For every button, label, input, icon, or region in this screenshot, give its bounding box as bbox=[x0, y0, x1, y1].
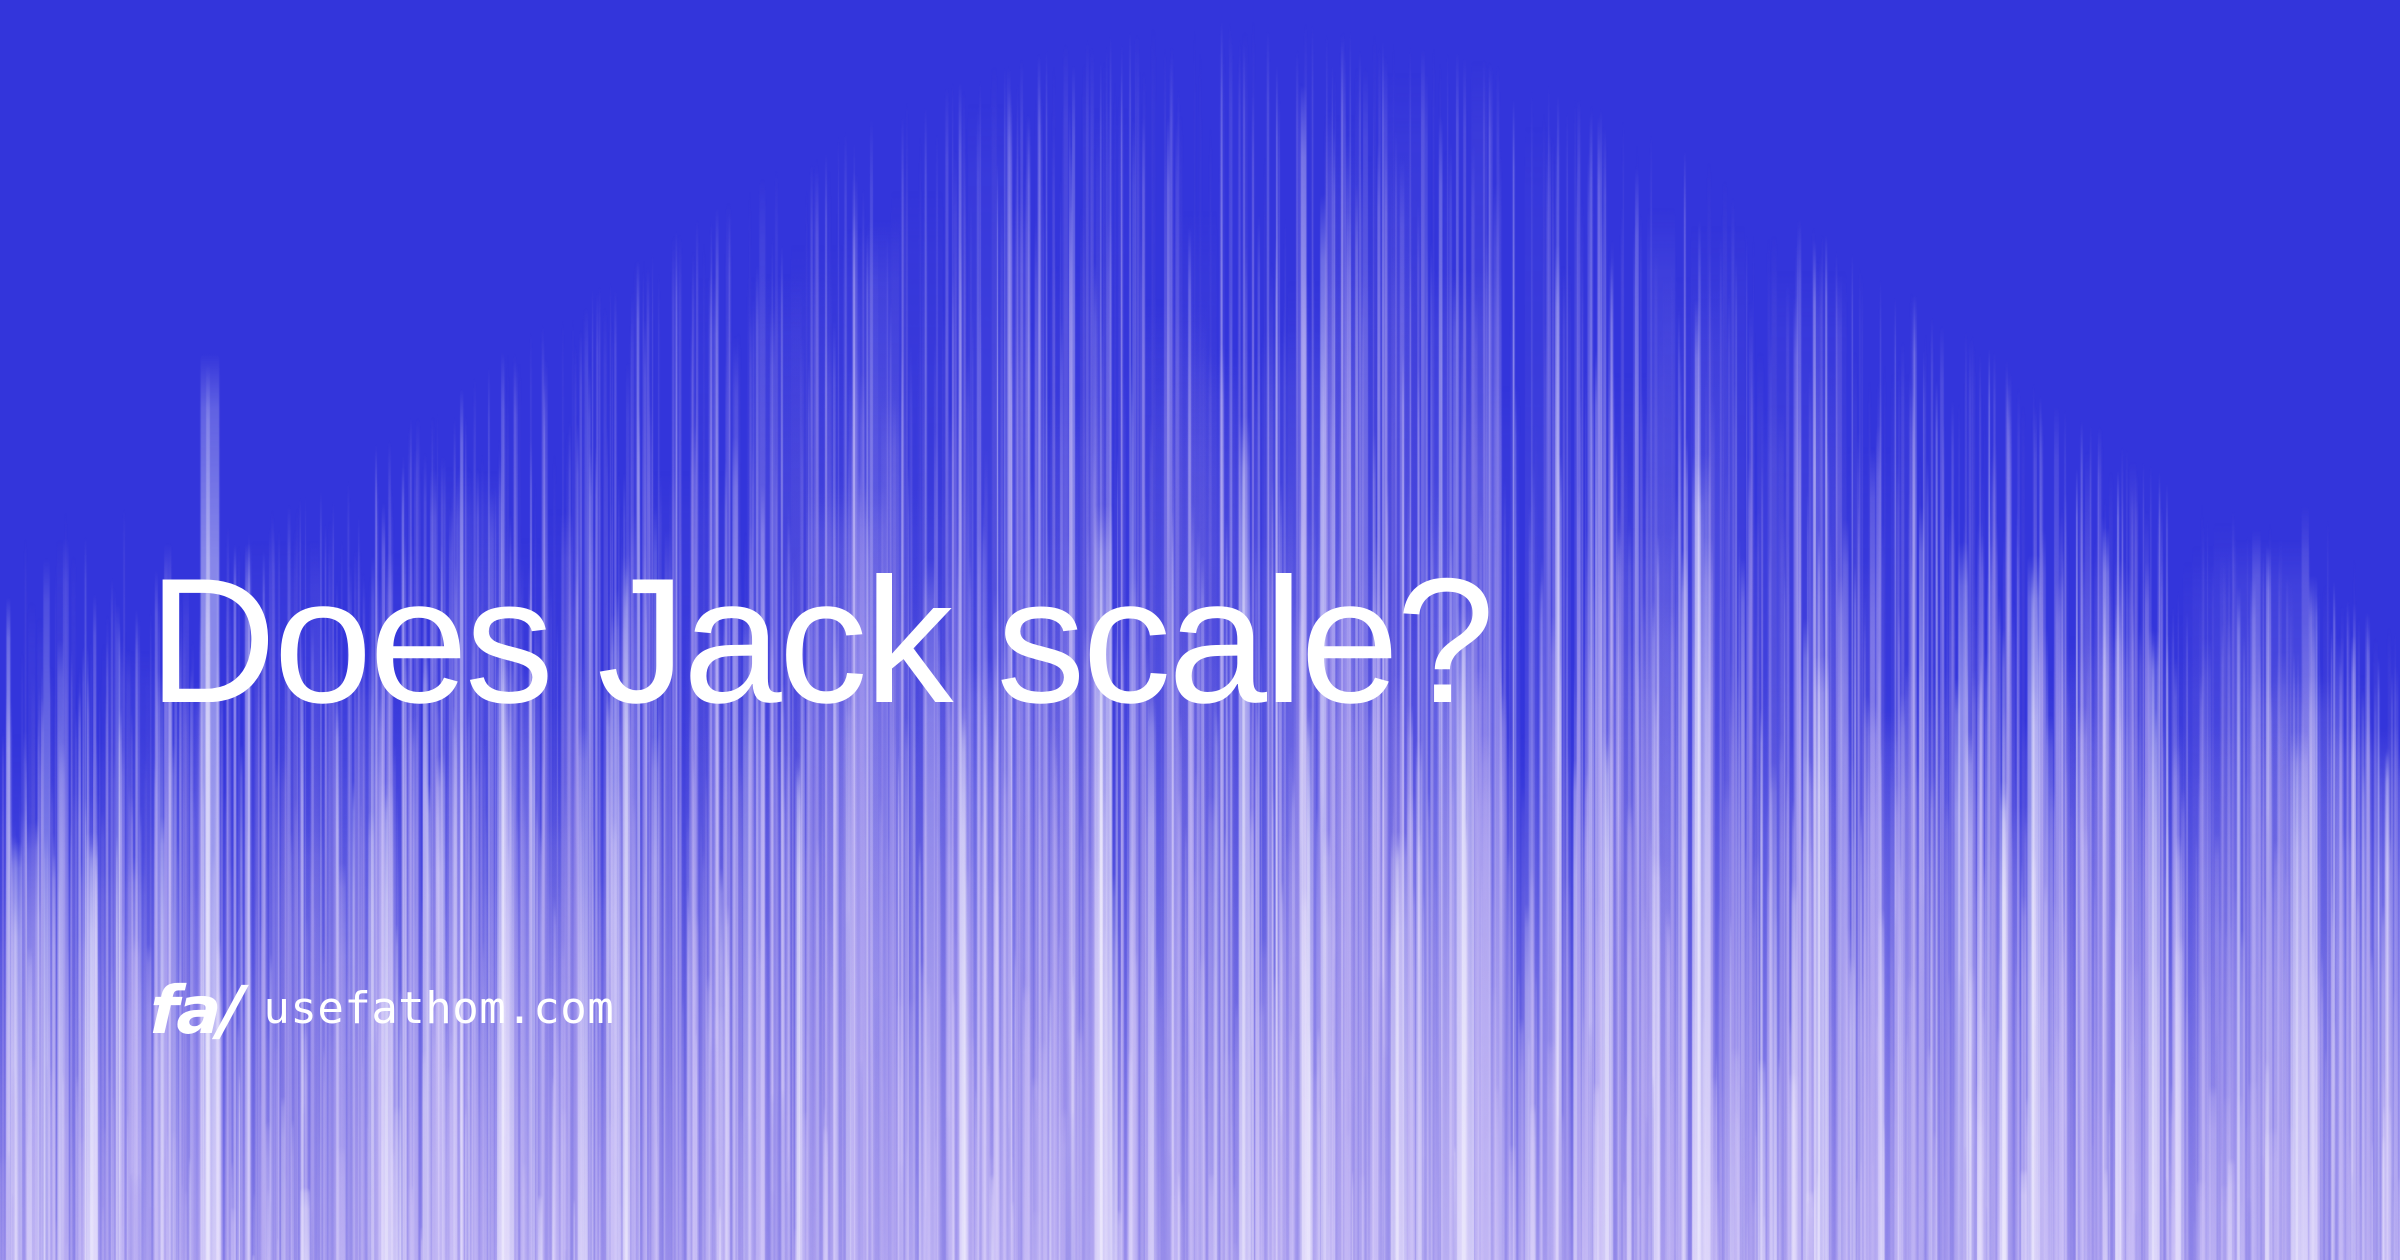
site-url-label: usefathom.com bbox=[263, 987, 614, 1035]
card-content: Does Jack scale? fa/ usefathom.com bbox=[0, 0, 2400, 1260]
fathom-logo-icon: fa/ bbox=[149, 978, 243, 1044]
footer-brand: fa/ usefathom.com bbox=[150, 978, 614, 1044]
social-share-card: Does Jack scale? fa/ usefathom.com bbox=[0, 0, 2400, 1260]
page-title: Does Jack scale? bbox=[148, 545, 1492, 737]
